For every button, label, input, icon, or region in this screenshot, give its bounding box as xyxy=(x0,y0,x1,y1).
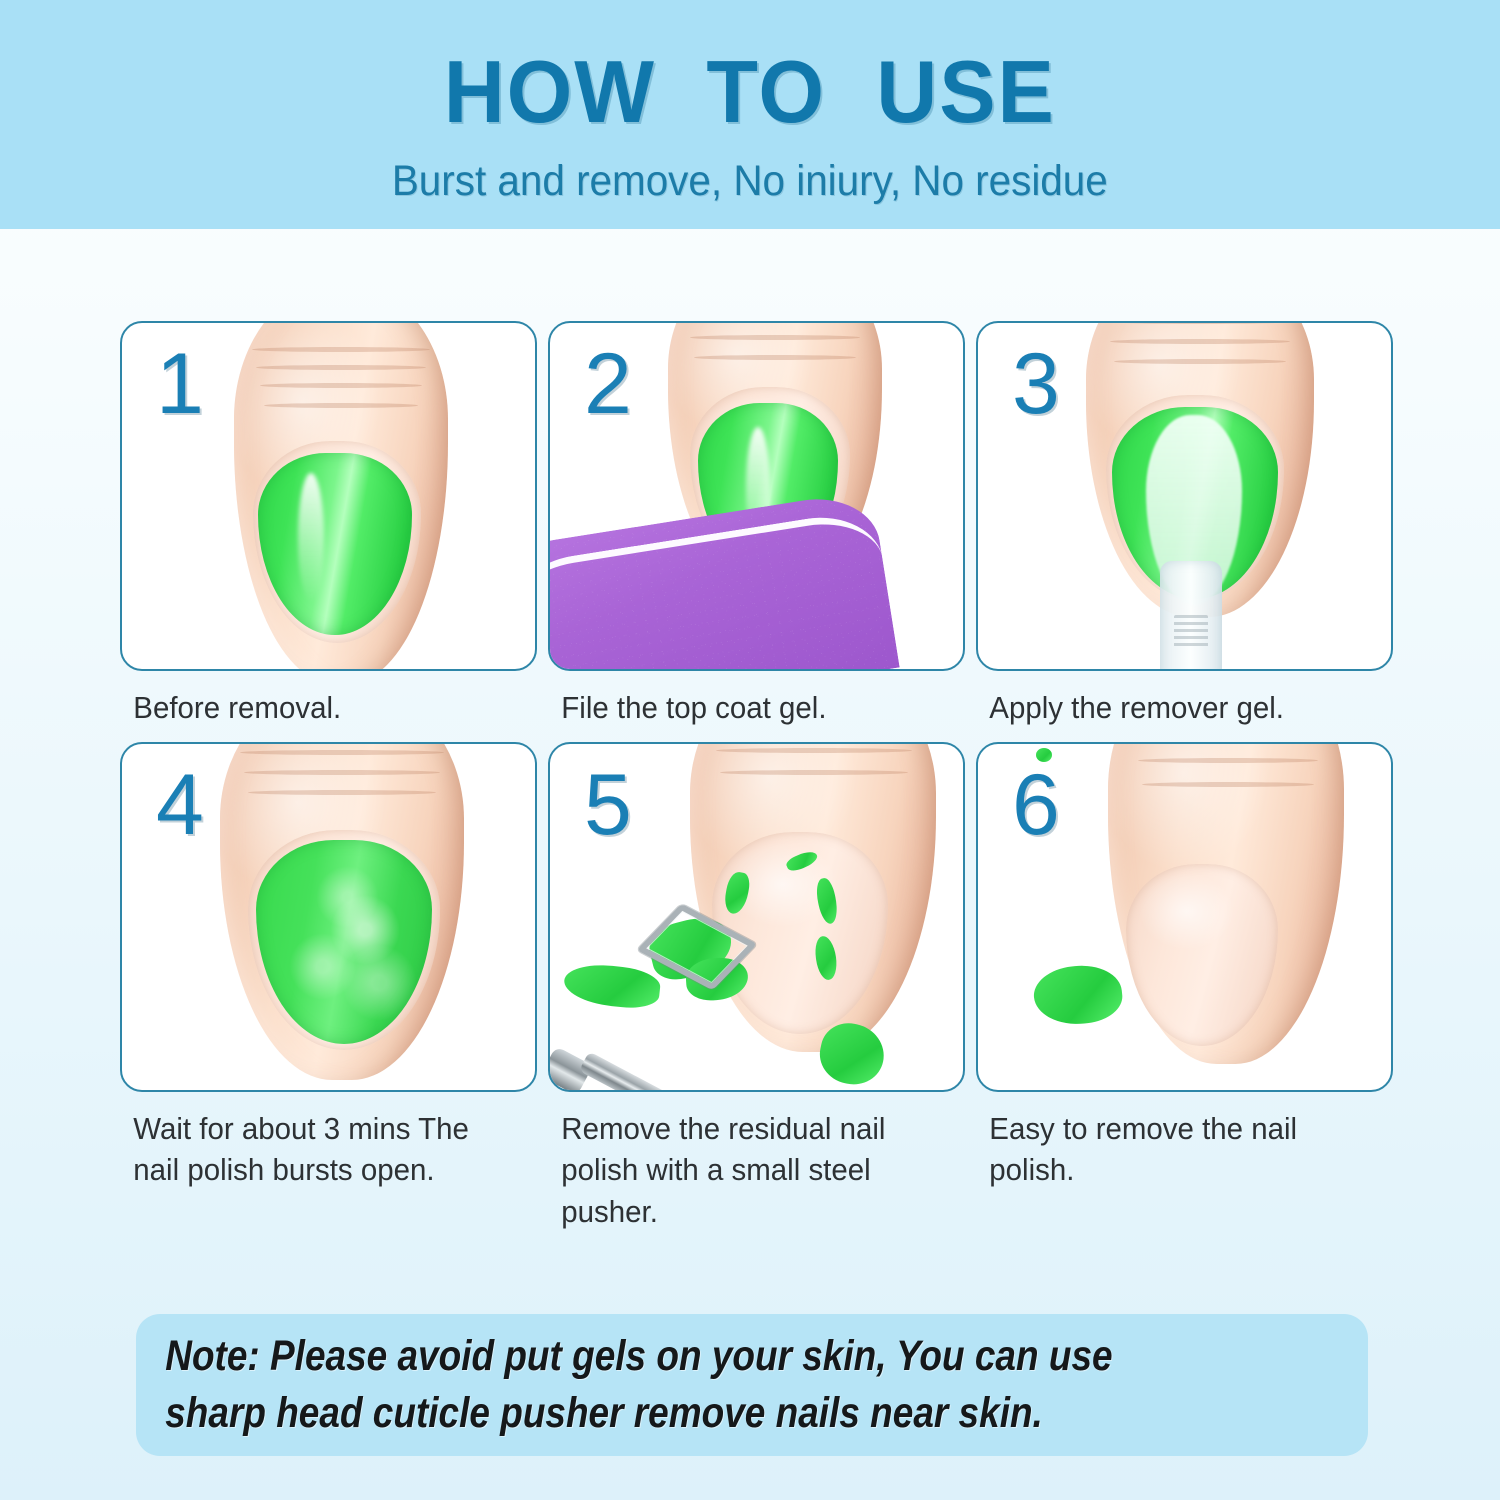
step-image-card-6: 6 xyxy=(976,742,1393,1092)
step-caption-1: Before removal. xyxy=(120,687,516,728)
page-title: HOW TO USE xyxy=(444,48,1056,136)
note-box: Note: Please avoid put gels on your skin… xyxy=(136,1314,1368,1456)
note-text: Note: Please avoid put gels on your skin… xyxy=(136,1328,1142,1442)
step-item-6: 6 Easy to remove the nail polish. xyxy=(976,742,1393,1232)
step-item-5: 5 Remove the residual nail poli xyxy=(548,742,965,1232)
step-number-4: 4 xyxy=(156,762,204,848)
header-band: HOW TO USE Burst and remove, No iniury, … xyxy=(0,0,1500,229)
step-image-card-1: 1 xyxy=(120,321,537,671)
page-subtitle: Burst and remove, No iniury, No residue xyxy=(392,160,1108,203)
pusher-rod xyxy=(579,1052,722,1093)
step-image-card-5: 5 xyxy=(548,742,965,1092)
step-number-1: 1 xyxy=(156,341,204,427)
step-item-3: 3 Apply the remover gel. xyxy=(976,321,1393,728)
step-item-2: 2 File the top coat gel. xyxy=(548,321,965,728)
step-image-card-2: 2 xyxy=(548,321,965,671)
step-number-6: 6 xyxy=(1012,762,1060,848)
step-item-1: 1 Before removal. xyxy=(120,321,537,728)
step-caption-2: File the top coat gel. xyxy=(548,687,944,728)
step-item-4: 4 Wait for about 3 mins The nail polish … xyxy=(120,742,537,1232)
step-image-card-4: 4 xyxy=(120,742,537,1092)
step-caption-5: Remove the residual nail polish with a s… xyxy=(548,1108,944,1232)
step-number-2: 2 xyxy=(584,341,632,427)
step-caption-4: Wait for about 3 mins The nail polish bu… xyxy=(120,1108,516,1190)
step-caption-6: Easy to remove the nail polish. xyxy=(976,1108,1372,1190)
step-image-card-3: 3 xyxy=(976,321,1393,671)
step-caption-3: Apply the remover gel. xyxy=(976,687,1372,728)
step-number-5: 5 xyxy=(584,762,632,848)
step-number-3: 3 xyxy=(1012,341,1060,427)
steps-grid: 1 Before removal. 2 xyxy=(120,321,1392,1232)
